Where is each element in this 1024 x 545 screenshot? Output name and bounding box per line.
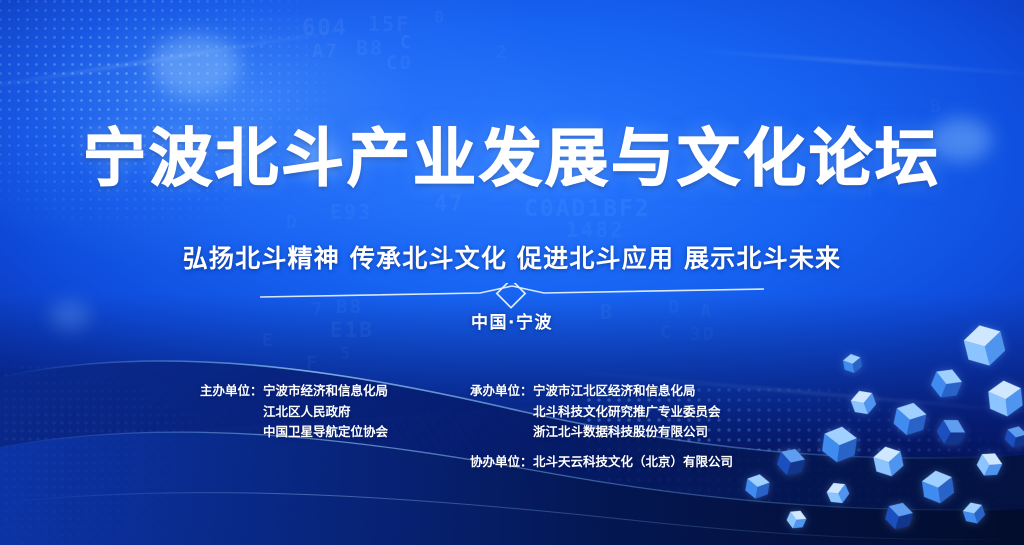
organizer-column-coorganizer: 承办单位：宁波市江北区经济和信息化局承办单位：北斗科技文化研究推广专业委员会承办… bbox=[470, 381, 733, 472]
divider-with-diamond bbox=[258, 283, 766, 309]
organizer-column-host: 主办单位：宁波市经济和信息化局主办单位：江北区人民政府主办单位：中国卫星导航定位… bbox=[200, 381, 388, 443]
poster-subtitle: 弘扬北斗精神 传承北斗文化 促进北斗应用 展示北斗未来 bbox=[0, 239, 1024, 275]
organizer-label: 协办单位： bbox=[470, 452, 533, 473]
organizer-name: 北斗天云科技文化（北京）有限公司 bbox=[533, 452, 733, 473]
organizer-row: 协办单位：北斗天云科技文化（北京）有限公司 bbox=[470, 452, 733, 473]
poster-content: 宁波北斗产业发展与文化论坛 弘扬北斗精神 传承北斗文化 促进北斗应用 展示北斗未… bbox=[0, 0, 1024, 545]
organizer-name: 宁波市经济和信息化局 bbox=[263, 381, 388, 402]
organizer-name: 北斗科技文化研究推广专业委员会 bbox=[533, 402, 721, 423]
organizer-row: 主办单位：宁波市经济和信息化局 bbox=[200, 381, 388, 402]
organizer-name: 江北区人民政府 bbox=[263, 402, 351, 423]
organizer-row: 承办单位：浙江北斗数据科技股份有限公司 bbox=[470, 422, 733, 443]
organizer-label: 承办单位： bbox=[470, 381, 533, 402]
page-title: 宁波北斗产业发展与文化论坛 bbox=[0, 108, 1024, 199]
organizer-label: 主办单位： bbox=[200, 381, 263, 402]
organizer-name: 宁波市江北区经济和信息化局 bbox=[533, 381, 696, 402]
organizer-row: 承办单位：宁波市江北区经济和信息化局 bbox=[470, 381, 733, 402]
organizer-name: 中国卫星导航定位协会 bbox=[263, 422, 388, 443]
event-location: 中国·宁波 bbox=[0, 308, 1024, 333]
organizer-name: 浙江北斗数据科技股份有限公司 bbox=[533, 422, 708, 443]
organizer-row: 主办单位：中国卫星导航定位协会 bbox=[200, 422, 388, 443]
organizer-block: 主办单位：宁波市经济和信息化局主办单位：江北区人民政府主办单位：中国卫星导航定位… bbox=[0, 381, 1024, 481]
organizer-row: 承办单位：北斗科技文化研究推广专业委员会 bbox=[470, 402, 733, 423]
poster-canvas: 60415FA7B8CC002947C0AD1BF21482E1BB87BDAC… bbox=[0, 0, 1024, 545]
organizer-row: 主办单位：江北区人民政府 bbox=[200, 402, 388, 423]
